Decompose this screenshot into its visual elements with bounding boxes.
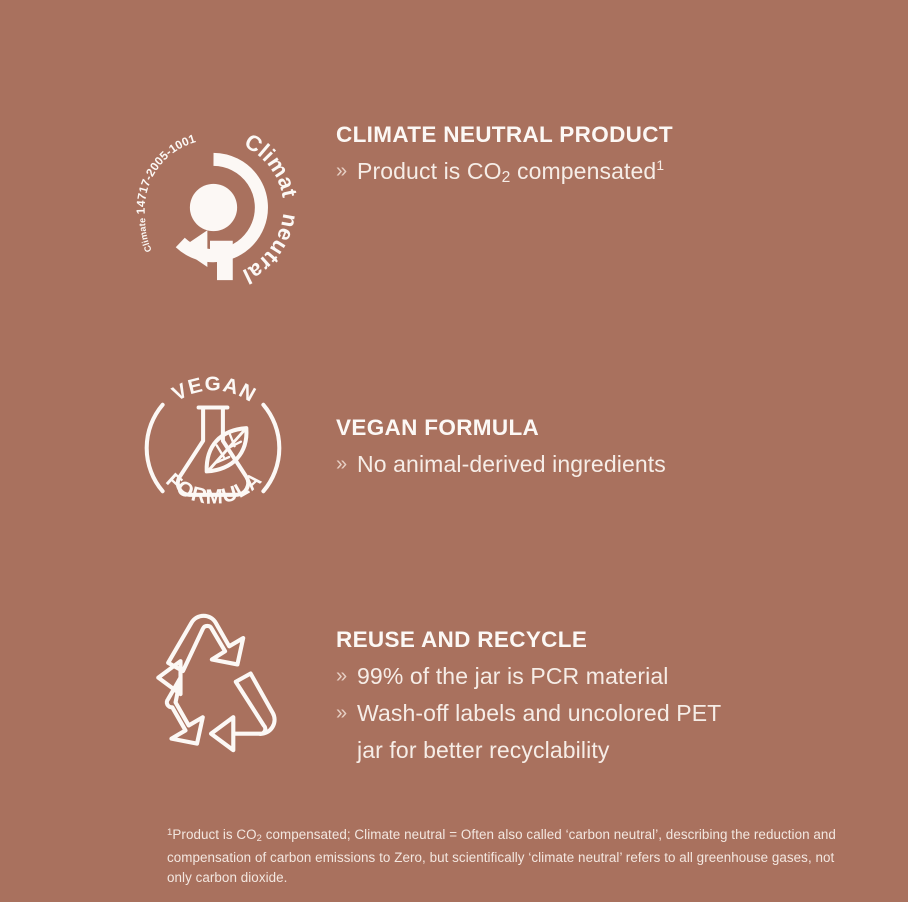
bullet-item: » 99% of the jar is PCR material <box>336 658 721 695</box>
footnote: 1Product is CO2 compensated; Climate neu… <box>167 825 847 889</box>
bullet-text: Product is CO2 compensated1 <box>357 153 664 193</box>
recycle-badge <box>131 610 296 770</box>
bullet-text-before: Product is CO <box>357 158 502 184</box>
climate-neutral-badge: 14717-2005-1001 ClimatePartner Climate n… <box>126 120 301 295</box>
bullet-item: » No animal-derived ingredients <box>336 446 666 483</box>
badge-cell-vegan-formula: VEGAN FORMULA <box>108 358 318 538</box>
bullet-text: No animal-derived ingredients <box>357 446 666 483</box>
footnote-part-2: compensated; Climate neutral = Often als… <box>167 827 836 885</box>
bullet-item: » Wash-off labels and uncolored PET jar … <box>336 695 721 769</box>
recycle-icon <box>158 616 274 750</box>
claim-title-climate-neutral: CLIMATE NEUTRAL PRODUCT <box>336 122 673 148</box>
bullet-list-vegan-formula: » No animal-derived ingredients <box>336 446 666 483</box>
climate-partner-certificate-id: 14717-2005-1001 <box>133 131 197 214</box>
badge-cell-recycle <box>108 610 318 770</box>
bullet-list-climate-neutral: » Product is CO2 compensated1 <box>336 153 673 193</box>
bullet-marker-icon: » <box>336 658 357 695</box>
footnote-part-1: Product is CO <box>172 827 256 842</box>
vegan-formula-badge: VEGAN FORMULA <box>123 358 303 538</box>
climate-neutral-label-line-2: neutral <box>238 212 300 289</box>
bullet-marker-icon: » <box>336 446 357 483</box>
vegan-arc-top-label: VEGAN <box>168 373 260 407</box>
bullet-item: » Product is CO2 compensated1 <box>336 153 673 193</box>
bullet-marker-icon: » <box>336 695 357 732</box>
claim-title-vegan-formula: VEGAN FORMULA <box>336 415 666 441</box>
claim-title-reuse-and-recycle: REUSE AND RECYCLE <box>336 627 721 653</box>
claim-row-reuse-and-recycle: REUSE AND RECYCLE » 99% of the jar is PC… <box>108 610 721 770</box>
vegan-ring-arc-right <box>263 405 279 491</box>
bullet-marker-icon: » <box>336 153 357 190</box>
claim-row-climate-neutral: 14717-2005-1001 ClimatePartner Climate n… <box>108 120 673 295</box>
footnote-marker: 1 <box>167 827 172 838</box>
badge-cell-climate-neutral: 14717-2005-1001 ClimatePartner Climate n… <box>108 120 318 295</box>
footnote-reference: 1 <box>656 158 664 173</box>
sustainability-claims-panel: 14717-2005-1001 ClimatePartner Climate n… <box>0 0 908 902</box>
bullet-text-after: compensated <box>510 158 656 184</box>
vegan-ring-arc-left <box>147 405 163 491</box>
vegan-arc-bottom-label: FORMULA <box>161 467 266 508</box>
text-cell-climate-neutral: CLIMATE NEUTRAL PRODUCT » Product is CO2… <box>318 120 673 193</box>
bullet-text: Wash-off labels and uncolored PET jar fo… <box>357 695 721 769</box>
text-cell-recycle: REUSE AND RECYCLE » 99% of the jar is PC… <box>318 610 721 769</box>
bullet-list-recycle: » 99% of the jar is PCR material » Wash-… <box>336 658 721 769</box>
footnote-subscript: 2 <box>257 833 262 843</box>
bullet-text: 99% of the jar is PCR material <box>357 658 669 695</box>
text-cell-vegan-formula: VEGAN FORMULA » No animal-derived ingred… <box>318 358 666 483</box>
claim-row-vegan-formula: VEGAN FORMULA VEGAN FORMULA » No animal-… <box>108 358 666 538</box>
bullet-subscript: 2 <box>502 169 511 186</box>
